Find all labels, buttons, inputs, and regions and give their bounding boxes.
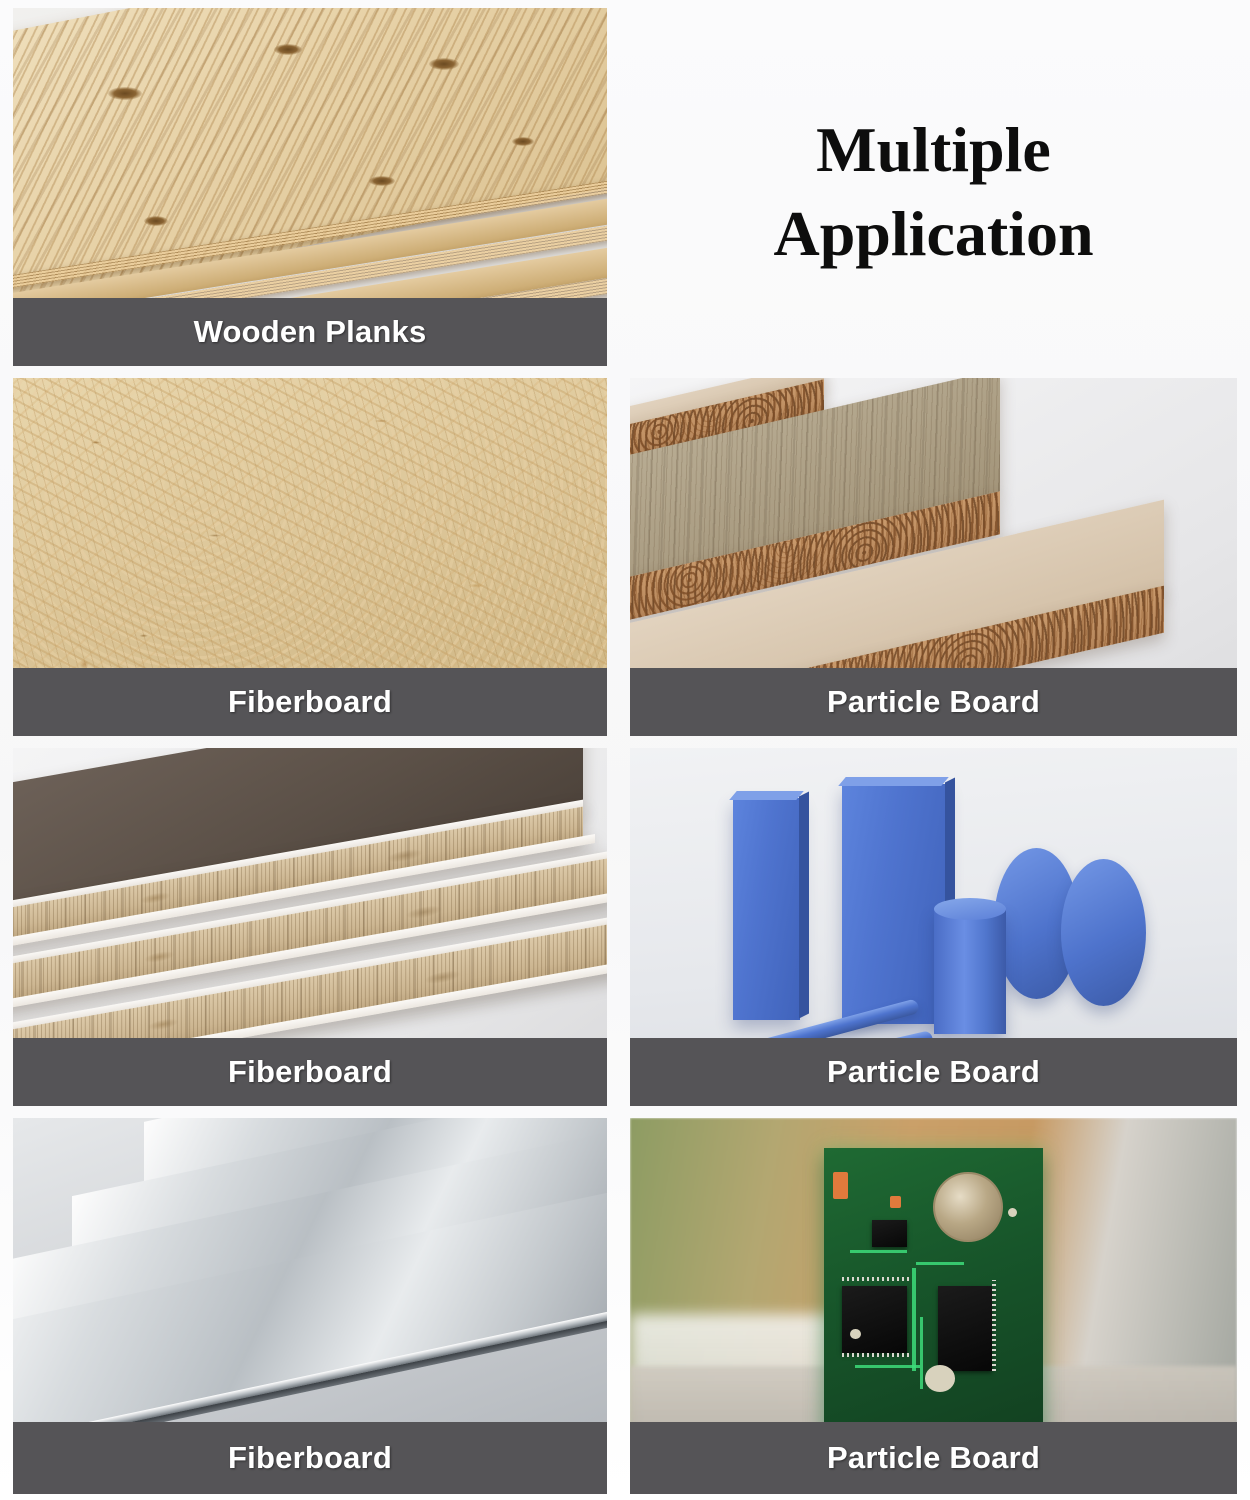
caption-text: Particle Board: [827, 1054, 1040, 1090]
cell-fiberboard-osb[interactable]: Fiberboard: [13, 378, 607, 736]
caption-text: Fiberboard: [228, 684, 392, 720]
cell-fiberboard-metal[interactable]: Fiberboard: [13, 1118, 607, 1494]
caption-fiberboard-metal: Fiberboard: [13, 1422, 607, 1494]
caption-particle-board-plastic: Particle Board: [630, 1038, 1237, 1106]
caption-wooden-planks: Wooden Planks: [13, 298, 607, 366]
application-grid: Multiple Application: [13, 8, 1237, 1494]
caption-text: Particle Board: [827, 684, 1040, 720]
cell-fiberboard-blockboard[interactable]: Fiberboard: [13, 748, 607, 1106]
caption-text: Fiberboard: [228, 1440, 392, 1476]
caption-particle-board-panels: Particle Board: [630, 668, 1237, 736]
caption-particle-board-pcb: Particle Board: [630, 1422, 1237, 1494]
cell-particle-board-pcb[interactable]: Particle Board: [630, 1118, 1237, 1494]
title-block: Multiple Application: [630, 8, 1237, 376]
caption-text: Particle Board: [827, 1440, 1040, 1476]
caption-fiberboard-osb: Fiberboard: [13, 668, 607, 736]
circuit-board: [824, 1148, 1043, 1449]
caption-text: Fiberboard: [228, 1054, 392, 1090]
title-line-1: Multiple: [816, 114, 1051, 185]
page-title: Multiple Application: [694, 108, 1174, 277]
title-line-2: Application: [773, 198, 1093, 269]
caption-fiberboard-blockboard: Fiberboard: [13, 1038, 607, 1106]
cell-wooden-planks[interactable]: Wooden Planks: [13, 8, 607, 366]
cell-particle-board-panels[interactable]: Particle Board: [630, 378, 1237, 736]
caption-text: Wooden Planks: [194, 314, 427, 350]
infographic-page: Multiple Application: [0, 0, 1250, 1500]
cell-particle-board-plastic[interactable]: Particle Board: [630, 748, 1237, 1106]
